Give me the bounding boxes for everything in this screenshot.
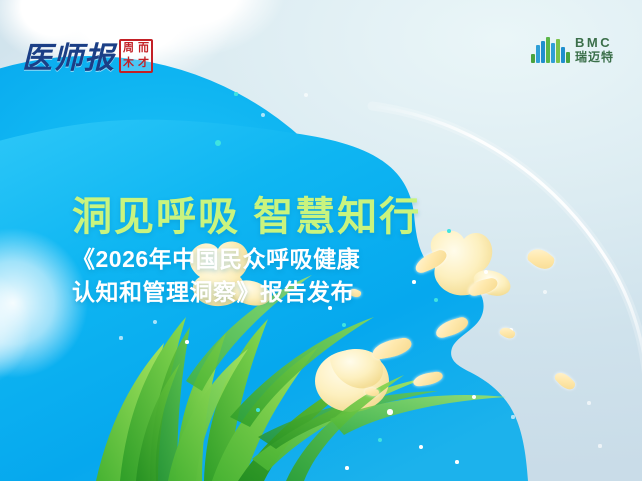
bmc-brand-en: BMC (575, 36, 614, 49)
yishibao-wordmark: 医师报 (22, 33, 115, 77)
seal-char: 而 (138, 43, 149, 54)
sound-bar (546, 37, 550, 63)
poster-headline: 洞见呼吸 智慧知行 (72, 184, 421, 242)
sound-bar (541, 41, 545, 63)
seal-char: 才 (138, 58, 149, 69)
sound-bar (566, 52, 570, 63)
poster-canvas: 医师报 周 而 木 才 BMC 瑞迈特 洞见呼吸 智慧知行 《2026年中国民众… (0, 0, 642, 481)
bmc-wordmark: BMC 瑞迈特 (575, 36, 614, 63)
red-seal-icon: 周 而 木 才 (119, 39, 153, 73)
sound-bar (531, 54, 535, 63)
seal-char: 周 (123, 43, 134, 54)
seal-char: 木 (123, 58, 134, 69)
sound-bar (536, 45, 540, 63)
bmc-ruimaite-logo[interactable]: BMC 瑞迈特 (531, 36, 614, 63)
poster-subtitle: 《2026年中国民众呼吸健康 认知和管理洞察》报告发布 (72, 243, 360, 308)
yishibao-logo[interactable]: 医师报 周 而 木 才 (22, 33, 153, 77)
sound-bar (551, 43, 555, 63)
sound-bars-icon (531, 37, 570, 63)
bmc-brand-cn: 瑞迈特 (575, 51, 614, 63)
sound-bar (561, 47, 565, 63)
sound-bar (556, 39, 560, 63)
